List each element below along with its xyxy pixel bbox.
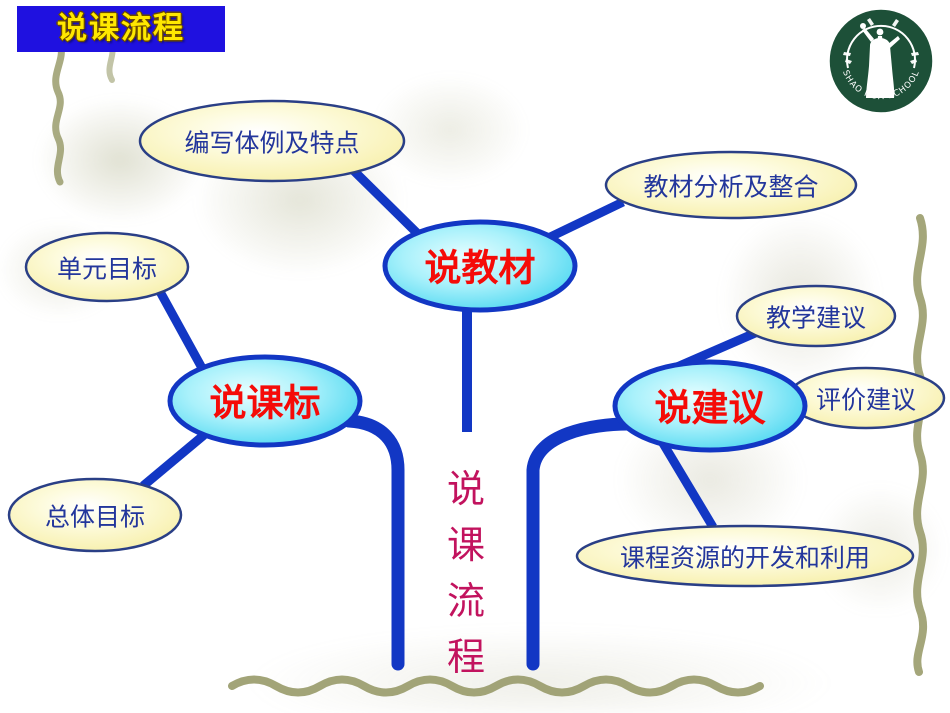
node-zongti-mubiao-label: 总体目标 — [45, 503, 145, 532]
center-vertical-title: 说 课 流 程 — [447, 467, 485, 679]
node-shuo-kebiao-label: 说课标 — [210, 382, 321, 425]
node-bianxie-tili-label: 编写体例及特点 — [184, 129, 359, 158]
connector-kebiao-to-danyuan — [158, 288, 202, 368]
connector-jiaocai-to-fenxi — [544, 202, 623, 240]
connector-kebiao-to-zongti — [143, 435, 204, 486]
center-char-2: 课 — [447, 523, 485, 567]
node-shuo-jianyi[interactable]: 说建议 — [615, 362, 805, 450]
connector-kebiao-center-curve — [349, 421, 398, 664]
center-char-1: 说 — [447, 467, 485, 511]
node-danyuan-mubiao-label: 单元目标 — [57, 255, 157, 284]
node-jiaocai-fenxi[interactable]: 教材分析及整合 — [606, 152, 856, 218]
sub-node-group: 编写体例及特点 教材分析及整合 单元目标 总体目标 教学建议 评价建议 — [9, 101, 944, 586]
node-shuo-jiaocai-label: 说教材 — [425, 247, 536, 290]
node-shuo-jianyi-label: 说建议 — [655, 387, 767, 430]
node-danyuan-mubiao[interactable]: 单元目标 — [26, 233, 188, 301]
node-bianxie-tili[interactable]: 编写体例及特点 — [140, 101, 404, 181]
main-node-group: 说教材 说课标 说建议 — [170, 222, 805, 450]
node-pingjia-jianyi-label: 评价建议 — [816, 386, 916, 415]
node-jiaoxue-jianyi[interactable]: 教学建议 — [737, 286, 895, 346]
node-kecheng-ziyuan-label: 课程资源的开发和利用 — [620, 544, 870, 573]
node-jiaocai-fenxi-label: 教材分析及整合 — [643, 173, 818, 202]
node-zongti-mubiao[interactable]: 总体目标 — [9, 479, 181, 551]
node-shuo-jiaocai[interactable]: 说教材 — [385, 222, 575, 310]
node-kecheng-ziyuan[interactable]: 课程资源的开发和利用 — [577, 526, 913, 586]
center-char-3: 流 — [447, 579, 485, 623]
connector-jianyi-to-kecheng — [661, 440, 713, 527]
center-char-4: 程 — [447, 635, 485, 679]
mindmap-diagram: 编写体例及特点 教材分析及整合 单元目标 总体目标 教学建议 评价建议 — [0, 0, 950, 713]
node-shuo-kebiao[interactable]: 说课标 — [170, 357, 360, 445]
node-jiaoxue-jianyi-label: 教学建议 — [766, 304, 866, 333]
slide-canvas: 说课流程 1911 SHAO — [0, 0, 950, 713]
connector-jiaocai-to-bianxie — [352, 169, 420, 236]
node-pingjia-jianyi[interactable]: 评价建议 — [788, 368, 944, 428]
